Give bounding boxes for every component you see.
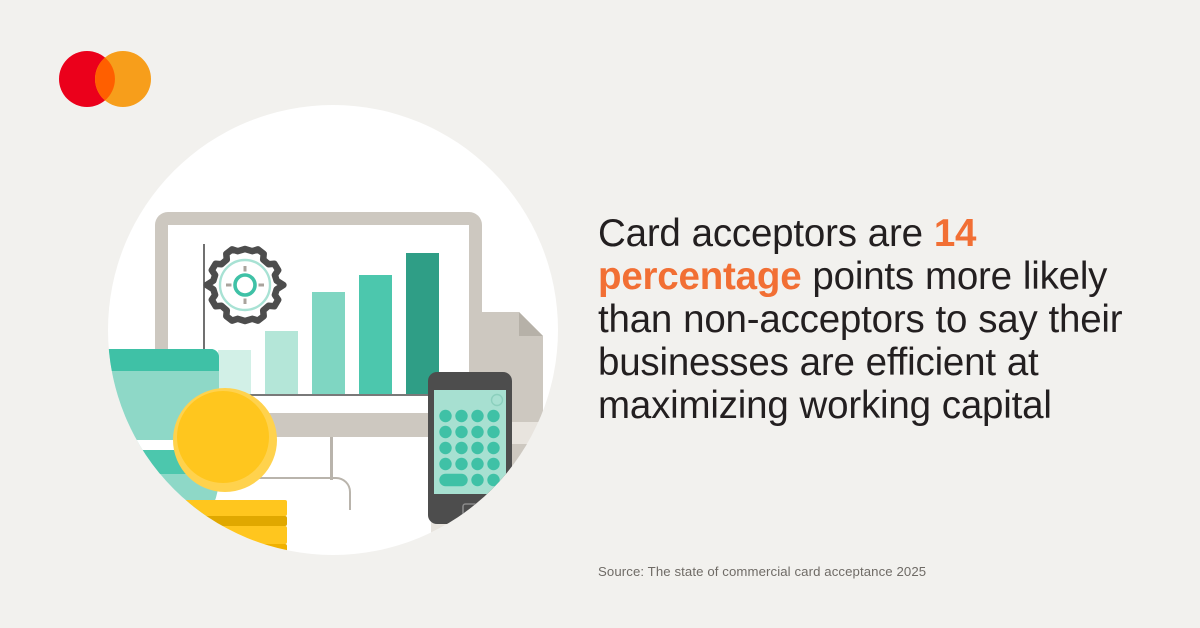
calculator-key[interactable]: [439, 458, 451, 470]
calculator-key[interactable]: [455, 426, 467, 438]
calculator-key[interactable]: [487, 458, 499, 470]
calculator-key[interactable]: [455, 442, 467, 454]
calculator-key[interactable]: [455, 410, 467, 422]
calculator-key[interactable]: [471, 474, 483, 486]
coin-layer-3: [165, 526, 287, 544]
calculator-key[interactable]: [487, 410, 499, 422]
chart-bar-4: [359, 275, 392, 394]
calculator-device: [428, 372, 512, 524]
calculator-key[interactable]: [487, 474, 499, 486]
calculator-key[interactable]: [471, 458, 483, 470]
headline-highlight-percentage: percentage: [598, 255, 801, 298]
calculator-key[interactable]: [471, 426, 483, 438]
infographic-canvas: Card acceptors are 14 percentage points …: [0, 0, 1200, 628]
calculator-key[interactable]: [471, 410, 483, 422]
chart-bar-2: [265, 331, 298, 394]
coin-layer-4: [165, 544, 287, 552]
source-attribution: Source: The state of commercial card acc…: [598, 563, 926, 581]
calculator-key[interactable]: [439, 426, 451, 438]
chart-bar-1: [218, 350, 251, 394]
headline-part-1: Card acceptors are: [598, 212, 934, 255]
calculator-key[interactable]: [487, 426, 499, 438]
calculator-key[interactable]: [487, 442, 499, 454]
coin-face: [177, 391, 269, 483]
calculator-key-wide[interactable]: [439, 474, 467, 486]
card-top-band: [103, 349, 219, 371]
calculator-key[interactable]: [439, 410, 451, 422]
illustration-svg: [103, 100, 563, 560]
coin-layer-5: [171, 552, 287, 560]
calculator-key[interactable]: [455, 458, 467, 470]
calculator-key[interactable]: [471, 442, 483, 454]
coin-layer-1: [177, 500, 287, 516]
coin-layer-2: [177, 516, 287, 526]
calculator-key[interactable]: [439, 442, 451, 454]
chart-bar-3: [312, 292, 345, 394]
page-title: Card acceptors are 14 percentage points …: [598, 212, 1158, 427]
working-capital-illustration: [103, 100, 563, 560]
headline-highlight-14: 14: [934, 212, 976, 255]
headline-block: Card acceptors are 14 percentage points …: [598, 212, 1158, 427]
